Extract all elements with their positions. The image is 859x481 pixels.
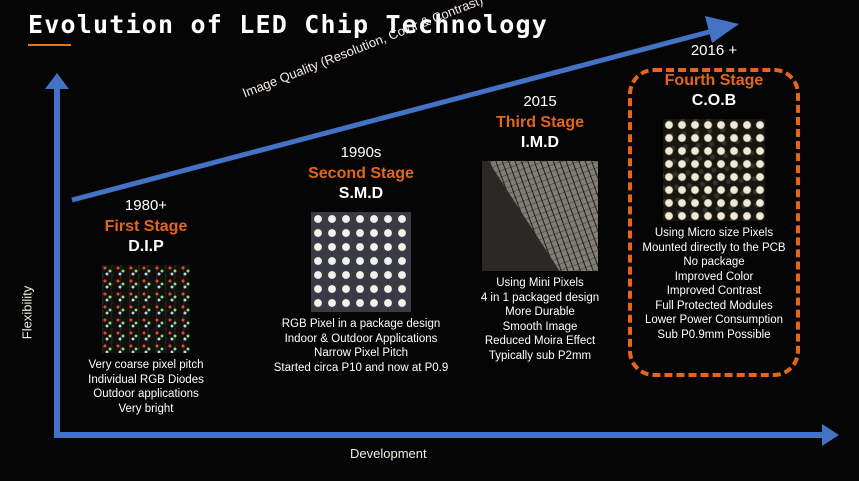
cob-led-chip-photo: [663, 119, 765, 221]
stage-abbreviation: I.M.D: [460, 133, 620, 153]
list-item: Very bright: [78, 402, 214, 417]
list-item: Lower Power Consumption: [628, 313, 800, 328]
list-item: Individual RGB Diodes: [78, 373, 214, 388]
y-axis-line: [54, 86, 60, 438]
y-axis-arrowhead-icon: [45, 73, 69, 89]
stage-card-third[interactable]: 2015 Third Stage I.M.D Using Mini Pixels…: [460, 92, 620, 363]
stage-year: 2015: [460, 92, 620, 112]
list-item: Indoor & Outdoor Applications: [255, 332, 467, 347]
list-item: Smooth Image: [460, 320, 620, 335]
stage-card-first[interactable]: 1980+ First Stage D.I.P Very coarse pixe…: [78, 196, 214, 416]
x-axis-line: [57, 432, 829, 438]
list-item: Improved Contrast: [628, 284, 800, 299]
page-title: Evolution of LED Chip Technology: [28, 10, 548, 39]
stage-name: Second Stage: [255, 163, 467, 184]
list-item: Outdoor applications: [78, 387, 214, 402]
imd-led-chip-photo: [482, 161, 598, 271]
list-item: Typically sub P2mm: [460, 349, 620, 364]
stage-bullet-list: Very coarse pixel pitch Individual RGB D…: [78, 358, 214, 416]
stage-abbreviation: C.O.B: [628, 91, 800, 111]
dip-led-chip-photo: [102, 265, 190, 353]
list-item: Reduced Moira Effect: [460, 334, 620, 349]
smd-led-dot-overlay: [311, 212, 411, 312]
stage-bullet-list: Using Micro size Pixels Mounted directly…: [628, 226, 800, 342]
list-item: 4 in 1 packaged design: [460, 291, 620, 306]
list-item: Narrow Pixel Pitch: [255, 346, 467, 361]
stage-bullet-list: Using Mini Pixels 4 in 1 packaged design…: [460, 276, 620, 363]
x-axis-arrowhead-icon: [822, 424, 839, 446]
cob-dot-overlay: [663, 119, 765, 221]
list-item: More Durable: [460, 305, 620, 320]
list-item: No package: [628, 255, 800, 270]
y-axis-label: Flexibility: [20, 268, 35, 358]
stage-year: 1980+: [78, 196, 214, 216]
stage-name: First Stage: [78, 216, 214, 237]
slide-canvas: Evolution of LED Chip Technology Flexibi…: [0, 0, 859, 481]
list-item: Using Mini Pixels: [460, 276, 620, 291]
list-item: Very coarse pixel pitch: [78, 358, 214, 373]
list-item: Using Micro size Pixels: [628, 226, 800, 241]
stage-card-fourth[interactable]: 2016 + Fourth Stage C.O.B Using Micro si…: [628, 41, 800, 342]
title-underline-accent: [28, 44, 71, 46]
stage-name: Third Stage: [460, 112, 620, 133]
list-item: RGB Pixel in a package design: [255, 317, 467, 332]
stage-card-second[interactable]: 1990s Second Stage S.M.D RGB Pixel in a …: [255, 143, 467, 375]
list-item: Improved Color: [628, 270, 800, 285]
list-item: Started circa P10 and now at P0.9: [255, 361, 467, 376]
list-item: Full Protected Modules: [628, 299, 800, 314]
stage-year: 1990s: [255, 143, 467, 163]
imd-dark-corner-overlay: [482, 161, 598, 271]
stage-name: Fourth Stage: [628, 70, 800, 91]
list-item: Mounted directly to the PCB: [628, 241, 800, 256]
stage-bullet-list: RGB Pixel in a package design Indoor & O…: [255, 317, 467, 375]
stage-abbreviation: S.M.D: [255, 184, 467, 204]
list-item: Sub P0.9mm Possible: [628, 328, 800, 343]
stage-abbreviation: D.I.P: [78, 237, 214, 257]
stage-year: 2016 +: [628, 41, 800, 61]
smd-led-chip-photo: [311, 212, 411, 312]
x-axis-label: Development: [350, 446, 427, 461]
